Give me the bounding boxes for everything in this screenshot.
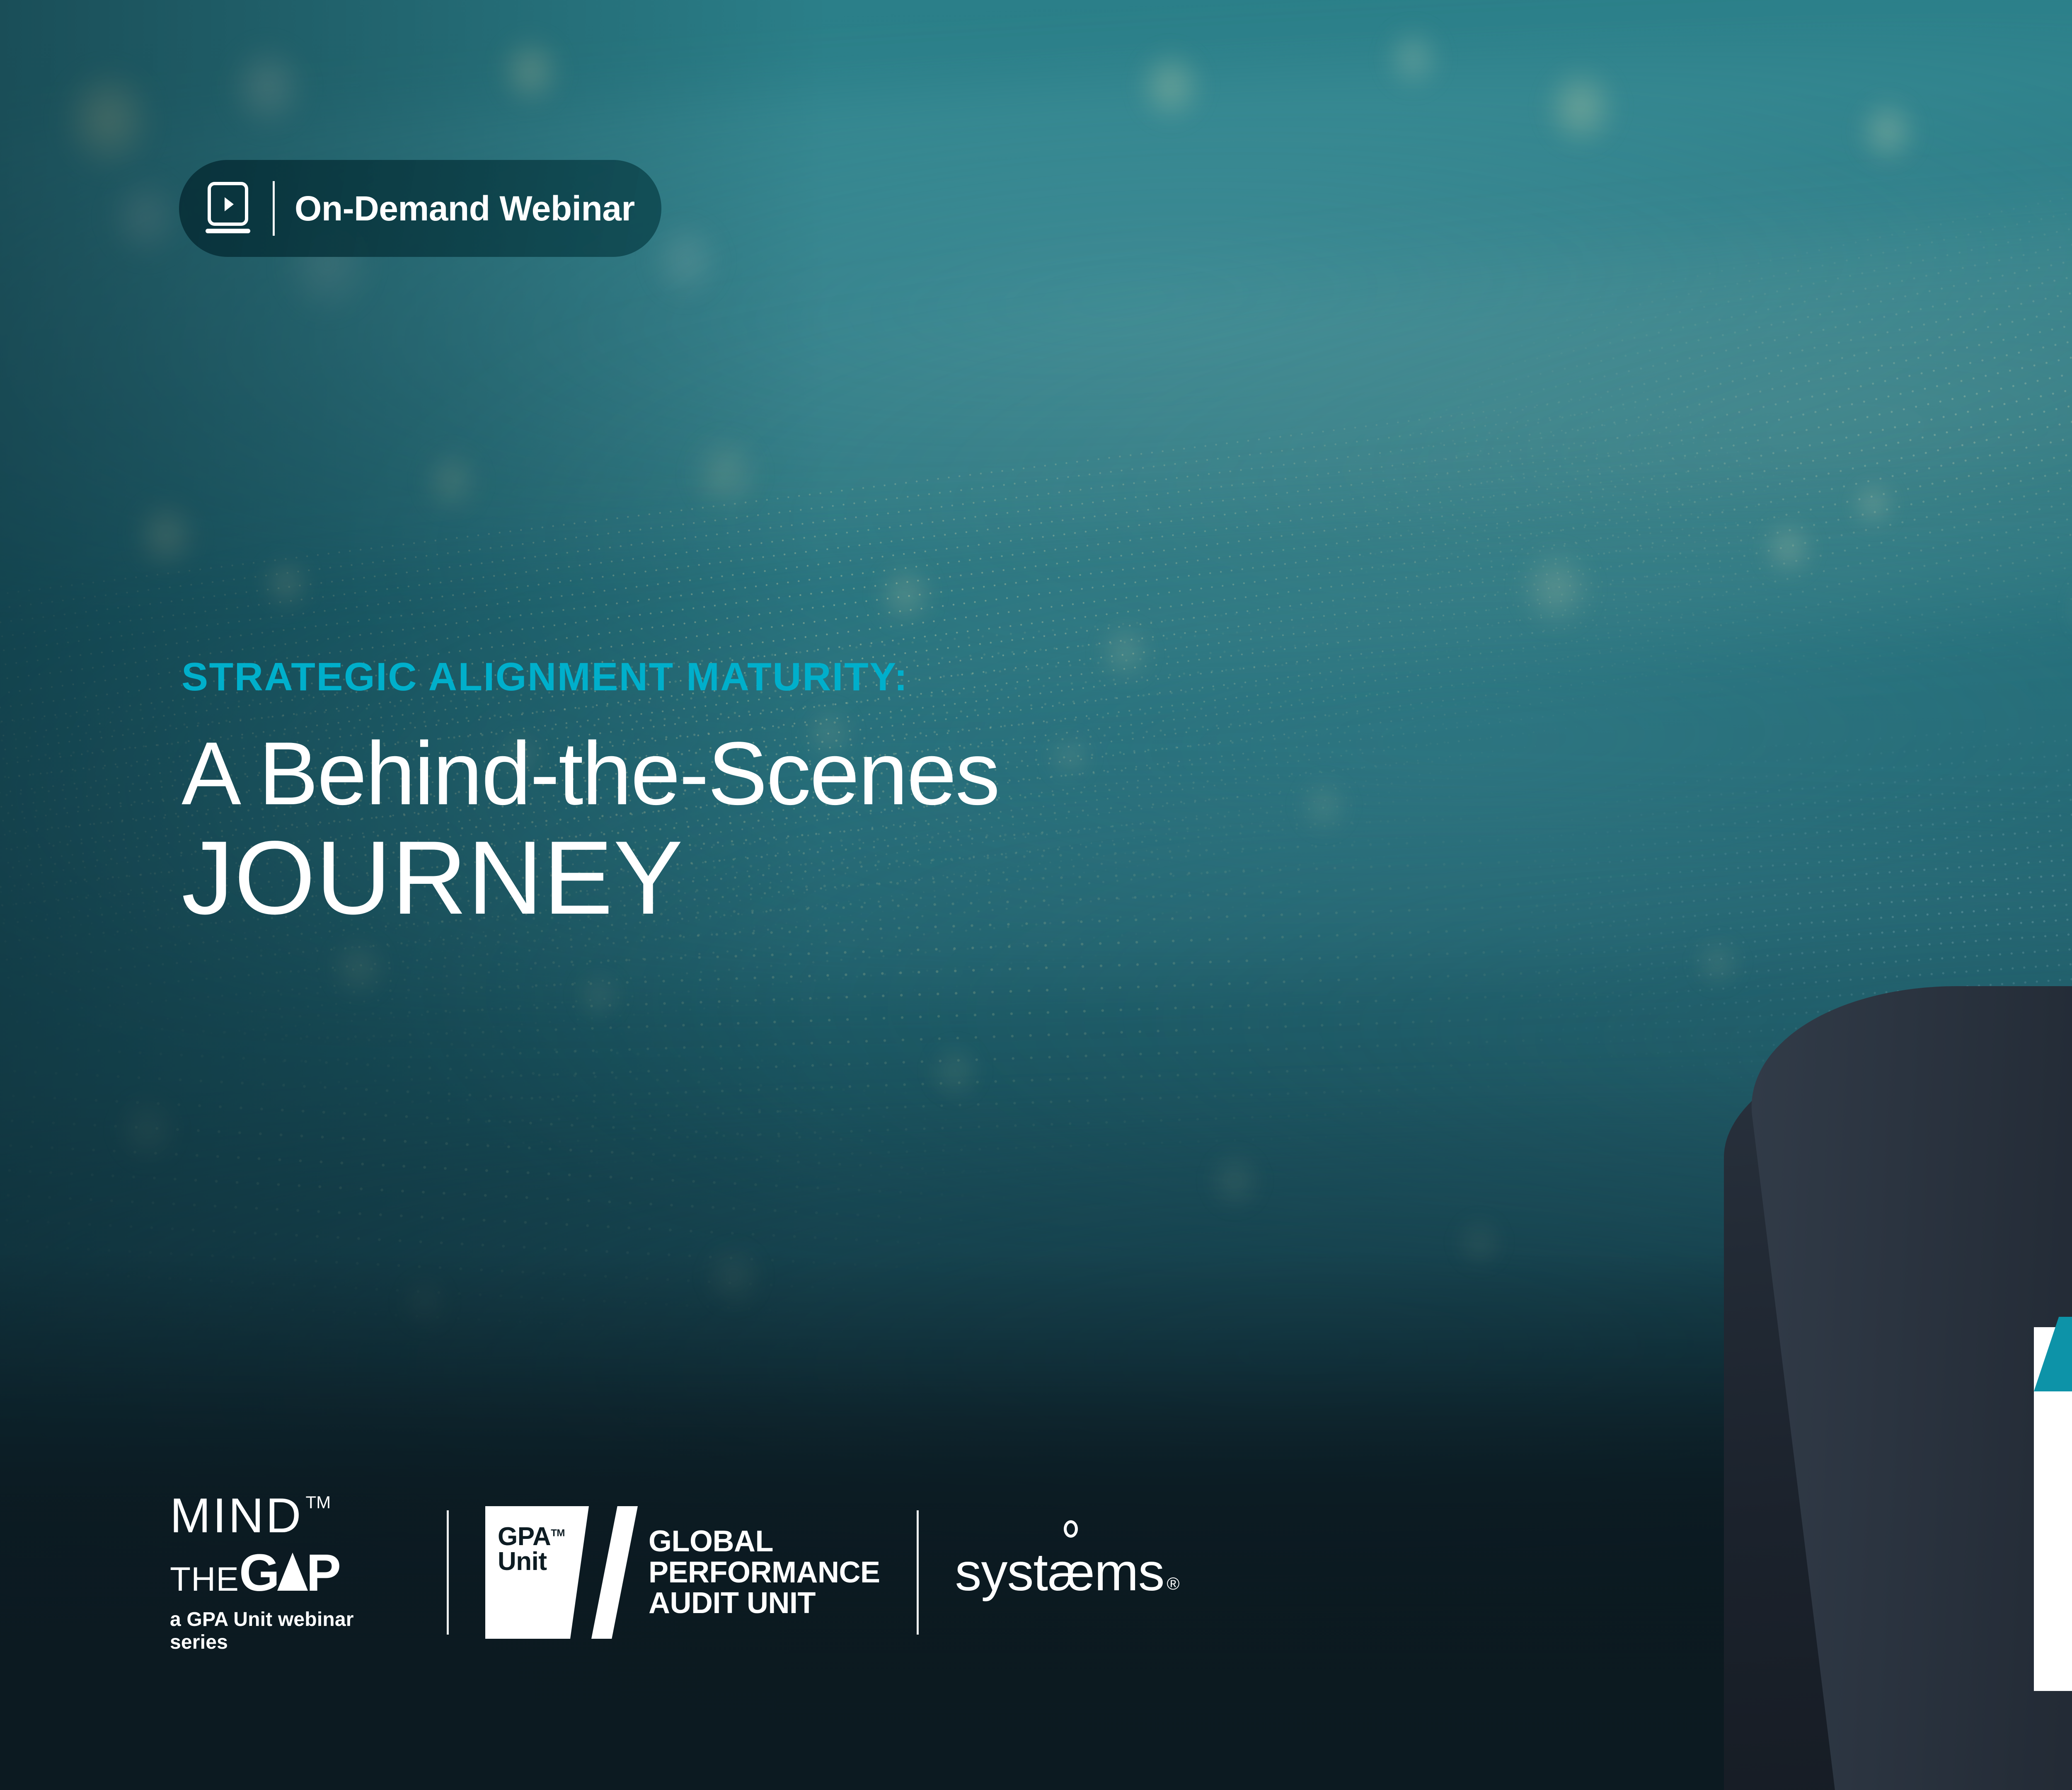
gpa-word-line-2: PERFORMANCE <box>649 1557 880 1588</box>
headline-eyebrow: STRATEGIC ALIGNMENT MATURITY: <box>182 657 1922 697</box>
systaems-logo: syst æ ms ® <box>955 1546 1179 1599</box>
bokeh-circle <box>1202 1144 1268 1218</box>
headline-line-2: JOURNEY <box>182 825 1922 931</box>
gpa-unit-logo: GPATM Unit GLOBAL PERFORMANCE AUDIT UNIT <box>485 1506 880 1639</box>
speaker-name: MIHAI TOMA <box>2034 1425 2072 1482</box>
gpa-badge-line-2: Unit <box>498 1547 547 1576</box>
speaker-title: Strategy and Performance Cluster Directo… <box>2034 1525 2072 1567</box>
mtg-word-the: THE <box>170 1563 239 1596</box>
systaems-registered-icon: ® <box>1167 1575 1179 1592</box>
bokeh-circle <box>924 1036 986 1105</box>
gpa-badge: GPATM Unit <box>485 1506 589 1639</box>
badge-divider <box>273 181 275 236</box>
mind-the-gap-logo: MIND TM THE G P a GPA Unit webinar serie… <box>170 1491 410 1654</box>
gpa-word-line-3: AUDIT UNIT <box>649 1588 880 1619</box>
mtg-letter-g: G <box>239 1547 279 1599</box>
mtg-letter-p: P <box>306 1547 340 1599</box>
systaems-ligature-glyph: æ <box>1048 1543 1094 1602</box>
gpa-trademark-icon: TM <box>551 1527 565 1538</box>
bokeh-circle <box>1533 54 1629 161</box>
gpa-word-line-1: GLOBAL <box>649 1526 880 1557</box>
systaems-ring-icon <box>1064 1520 1078 1538</box>
mtg-word-gap: G P <box>239 1547 340 1599</box>
webinar-promo-graphic: On-Demand Webinar STRATEGIC ALIGNMENT MA… <box>0 0 2072 1790</box>
mtg-letter-a-triangle-icon <box>277 1553 308 1591</box>
gpa-slash-icon <box>591 1506 638 1639</box>
systaems-part-1: syst <box>955 1546 1048 1599</box>
systaems-part-2: ms <box>1094 1546 1164 1599</box>
systaems-ae-ligature: æ <box>1048 1546 1094 1599</box>
headline-block: STRATEGIC ALIGNMENT MATURITY: A Behind-t… <box>182 657 1922 931</box>
logo-bar: MIND TM THE G P a GPA Unit webinar serie… <box>170 1500 1179 1645</box>
mtg-tagline: a GPA Unit webinar series <box>170 1608 410 1654</box>
speaker-portrait <box>1649 157 2072 1790</box>
bokeh-circle <box>1508 535 1604 641</box>
headline-line-1: A Behind-the-Scenes <box>182 728 1922 819</box>
mtg-word-mind: MIND <box>170 1491 303 1540</box>
badge-label: On-Demand Webinar <box>295 191 635 226</box>
logo-divider-1 <box>447 1510 449 1635</box>
bokeh-circle <box>1127 37 1214 135</box>
bokeh-circle <box>870 555 941 634</box>
laptop-play-icon <box>203 181 253 235</box>
on-demand-webinar-badge[interactable]: On-Demand Webinar <box>179 160 661 257</box>
logo-divider-2 <box>917 1510 919 1635</box>
mtg-trademark-icon: TM <box>306 1494 331 1511</box>
bokeh-circle <box>1376 17 1450 100</box>
